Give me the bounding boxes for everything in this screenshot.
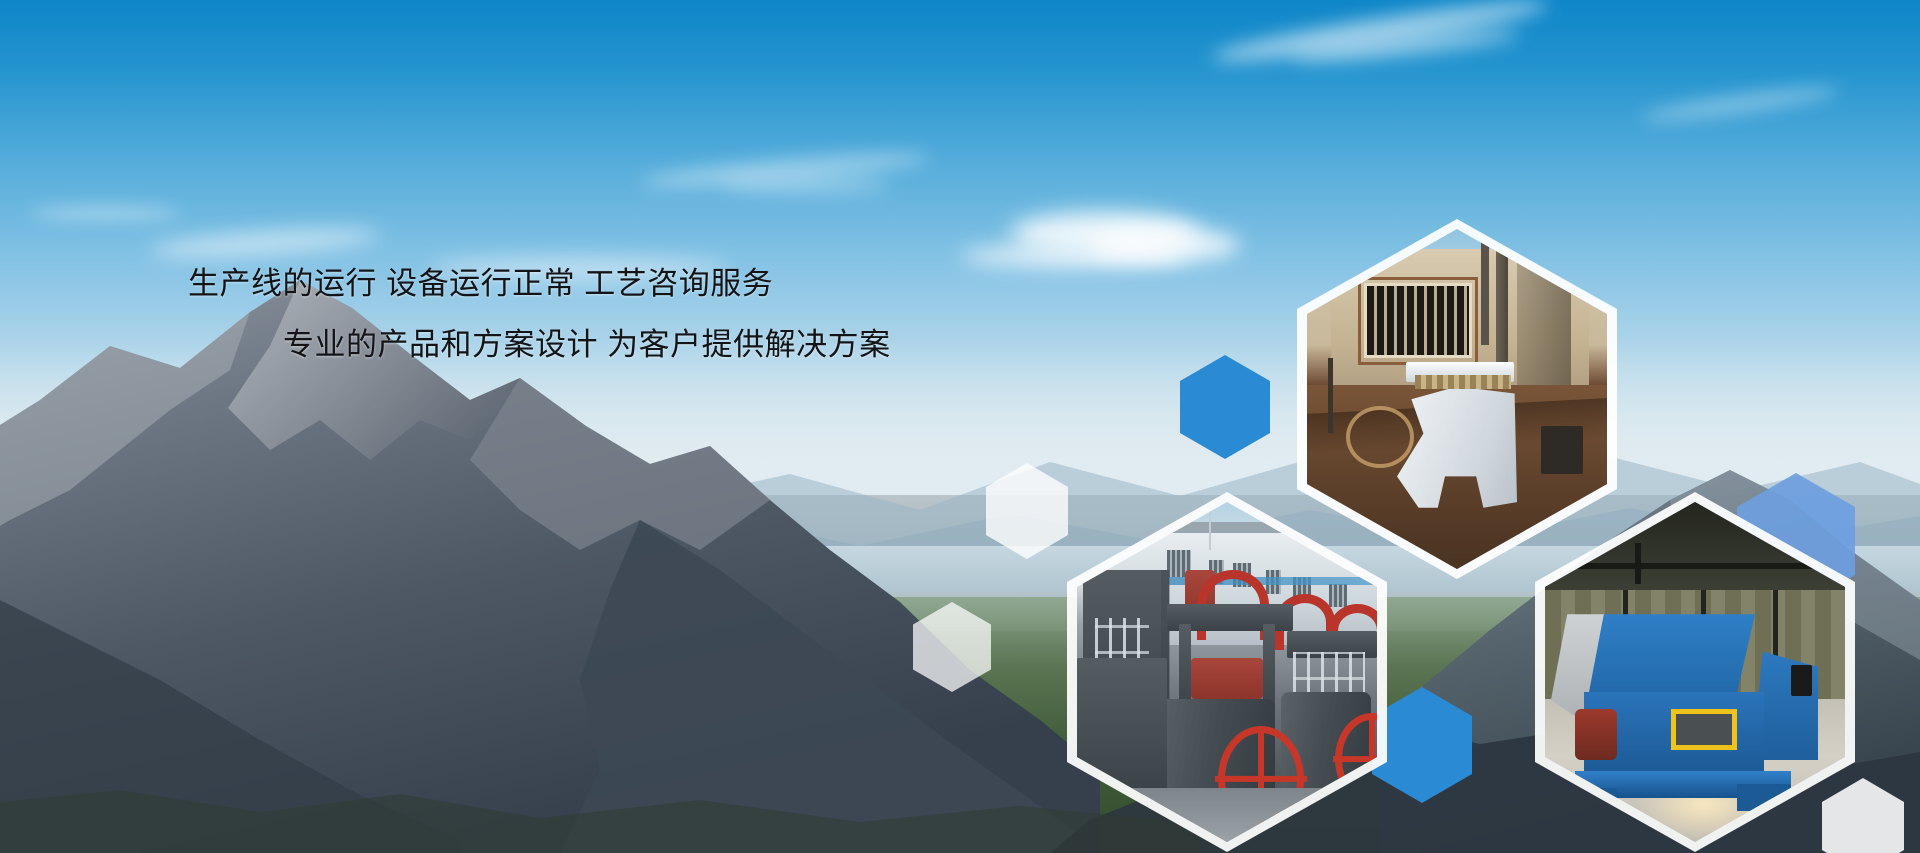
hero-copy: 生产线的运行 设备运行正常 工艺咨询服务 专业的产品和方案设计 为客户提供解决方… xyxy=(0,268,930,360)
hex-photo-image: 白色铸造设备（户外厂区） xyxy=(1307,229,1607,569)
headline-line-1: 生产线的运行 设备运行正常 工艺咨询服务 xyxy=(188,268,930,299)
casting-ladle-photo-art xyxy=(1307,229,1607,569)
hex-photo-image: 蓝色破碎机（车间内） xyxy=(1545,502,1845,842)
grey-press-line-photo-art xyxy=(1077,502,1377,842)
blue-shredder-photo-art xyxy=(1545,502,1845,842)
headline-line-2: 专业的产品和方案设计 为客户提供解决方案 xyxy=(283,329,930,360)
hex-photo-image: 灰色压机生产线（红色手轮） xyxy=(1077,502,1377,842)
hero-banner: 生产线的运行 设备运行正常 工艺咨询服务 专业的产品和方案设计 为客户提供解决方… xyxy=(0,0,1920,853)
